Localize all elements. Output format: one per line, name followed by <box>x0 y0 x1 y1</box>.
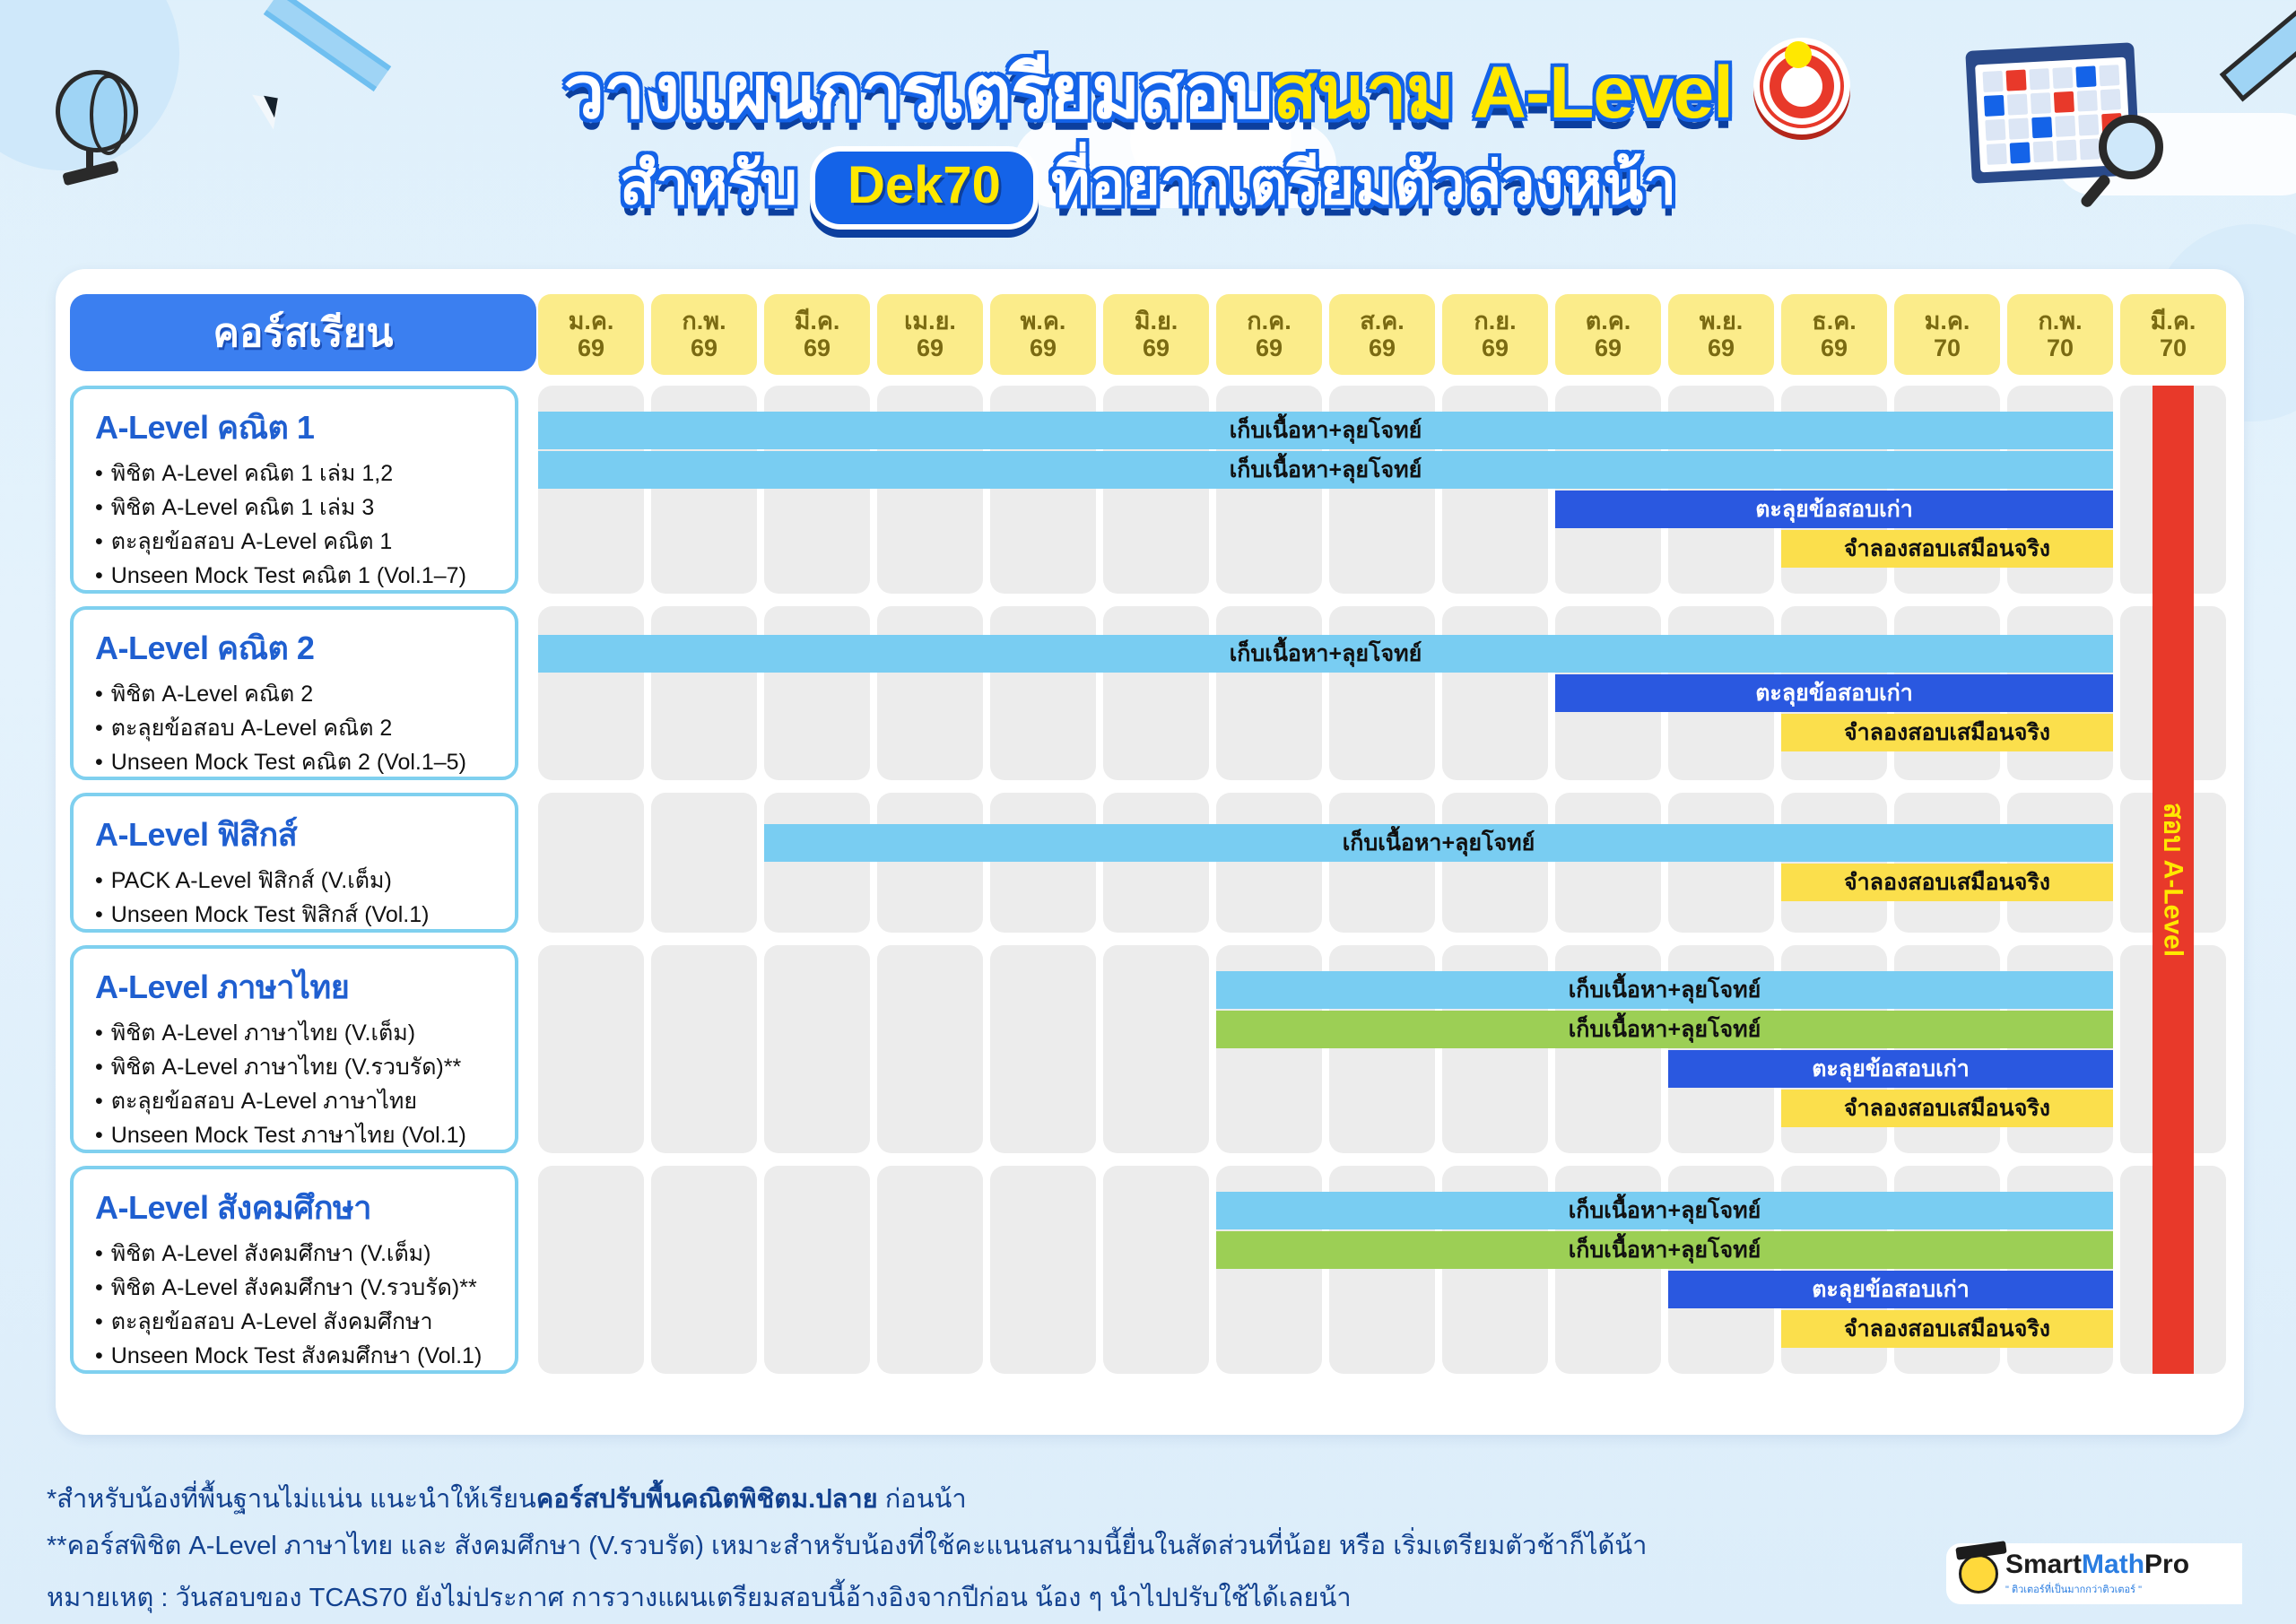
timeline-cell <box>877 606 983 780</box>
month-year: 69 <box>804 334 831 361</box>
gantt-bar-yellow: จำลองสอบเสมือนจริง <box>1781 864 2113 901</box>
logo-math: Math <box>2082 1550 2144 1579</box>
course-item-3: ตะลุยข้อสอบ A-Level คณิต 1 <box>95 525 497 559</box>
page-subtitle: สำหรับDek70ที่อยากเตรียมตัวล่วงหน้า <box>0 136 2296 230</box>
course-title: A-Level ฟิสิกส์ <box>95 809 497 860</box>
course-item-2: พิชิต A-Level ภาษาไทย (V.รวบรัด)** <box>95 1050 497 1084</box>
exam-date-marker: สอบ A-Level <box>2152 386 2194 1374</box>
month-year: 69 <box>1369 334 1396 361</box>
month-year: 70 <box>1934 334 1961 361</box>
month-year: 70 <box>2160 334 2187 361</box>
month-name: ก.พ. <box>682 308 726 334</box>
course-item-1: PACK A-Level ฟิสิกส์ (V.เต็ม) <box>95 864 497 898</box>
month-year: 69 <box>578 334 604 361</box>
page-title: วางแผนการเตรียมสอบสนาม A-Level <box>0 34 2296 151</box>
month-header-9: ก.ย.69 <box>1442 294 1548 375</box>
course-title: A-Level คณิต 2 <box>95 622 497 673</box>
footnote-1-a: *สำหรับน้องที่พื้นฐานไม่แน่น แนะนำให้เรี… <box>47 1485 536 1514</box>
course-card-4[interactable]: A-Level ภาษาไทยพิชิต A-Level ภาษาไทย (V.… <box>70 945 518 1153</box>
timeline-cell <box>764 606 870 780</box>
course-title: A-Level คณิต 1 <box>95 402 497 453</box>
timeline-cell <box>990 945 1096 1153</box>
gantt-bar-lblue: เก็บเนื้อหา+ลุยโจทย์ <box>538 412 2113 449</box>
logo-wordmark: SmartMathPro <box>2005 1551 2189 1578</box>
course-item-3: ตะลุยข้อสอบ A-Level ภาษาไทย <box>95 1084 497 1118</box>
month-year: 69 <box>691 334 717 361</box>
month-name: พ.ค. <box>1021 308 1066 334</box>
month-name: มี.ค. <box>2151 308 2196 334</box>
month-year: 69 <box>917 334 944 361</box>
timeline-cell <box>1103 793 1209 933</box>
gantt-bar-yellow: จำลองสอบเสมือนจริง <box>1781 714 2113 751</box>
gantt-bar-lblue: เก็บเนื้อหา+ลุยโจทย์ <box>764 824 2113 862</box>
course-item-1: พิชิต A-Level สังคมศึกษา (V.เต็ม) <box>95 1237 497 1271</box>
course-item-1: พิชิต A-Level ภาษาไทย (V.เต็ม) <box>95 1016 497 1050</box>
month-header-10: ต.ค.69 <box>1555 294 1661 375</box>
month-name: พ.ย. <box>1700 308 1744 334</box>
timeline-cell <box>1329 793 1435 933</box>
course-item-2: พิชิต A-Level สังคมศึกษา (V.รวบรัด)** <box>95 1271 497 1305</box>
timeline-cell <box>2007 793 2113 933</box>
course-card-1[interactable]: A-Level คณิต 1พิชิต A-Level คณิต 1 เล่ม … <box>70 386 518 594</box>
course-title: A-Level ภาษาไทย <box>95 961 497 1012</box>
subtitle-prefix: สำหรับ <box>620 150 797 216</box>
gantt-bar-lblue: เก็บเนื้อหา+ลุยโจทย์ <box>538 635 2113 673</box>
footnote-1: *สำหรับน้องที่พื้นฐานไม่แน่น แนะนำให้เรี… <box>47 1478 967 1519</box>
gantt-bar-lblue: เก็บเนื้อหา+ลุยโจทย์ <box>1216 1192 2113 1229</box>
timeline-cell <box>1668 793 1774 933</box>
month-year: 69 <box>1482 334 1509 361</box>
subtitle-suffix: ที่อยากเตรียมตัวล่วงหน้า <box>1051 150 1676 216</box>
footnote-1-c: ก่อนน้า <box>878 1485 967 1514</box>
course-card-5[interactable]: A-Level สังคมศึกษาพิชิต A-Level สังคมศึก… <box>70 1166 518 1374</box>
timeline-cell <box>1103 1166 1209 1374</box>
timeline-cell <box>877 793 983 933</box>
month-year: 70 <box>2047 334 2074 361</box>
logo-tagline: " ติวเตอร์ที่เป็นมากกว่าติวเตอร์ " <box>2005 1581 2189 1597</box>
course-item-4: Unseen Mock Test คณิต 1 (Vol.1–7) <box>95 559 497 593</box>
gantt-bar-yellow: จำลองสอบเสมือนจริง <box>1781 1310 2113 1348</box>
footnote-2: **คอร์สพิชิต A-Level ภาษาไทย และ สังคมศึ… <box>47 1524 1647 1566</box>
logo-pro: Pro <box>2144 1550 2189 1579</box>
course-item-4: Unseen Mock Test ภาษาไทย (Vol.1) <box>95 1118 497 1152</box>
month-header-14: ก.พ.70 <box>2007 294 2113 375</box>
gantt-bar-green: เก็บเนื้อหา+ลุยโจทย์ <box>1216 1011 2113 1048</box>
month-header-15: มี.ค.70 <box>2120 294 2226 375</box>
course-item-4: Unseen Mock Test สังคมศึกษา (Vol.1) <box>95 1339 497 1373</box>
timeline-cell <box>764 1166 870 1374</box>
month-header-2: ก.พ.69 <box>651 294 757 375</box>
timeline-cell <box>538 606 644 780</box>
timeline-cell <box>877 945 983 1153</box>
dek70-badge: Dek70 <box>810 146 1039 230</box>
timeline-cell <box>1216 606 1322 780</box>
month-header-3: มี.ค.69 <box>764 294 870 375</box>
timeline-cell <box>990 606 1096 780</box>
month-name: ธ.ค. <box>1812 308 1857 334</box>
timeline-cell <box>764 945 870 1153</box>
page-header: วางแผนการเตรียมสอบสนาม A-Level สำหรับDek… <box>0 0 2296 260</box>
logo-smart: Smart <box>2005 1550 2082 1579</box>
month-name: ก.ย. <box>1474 308 1516 334</box>
timeline-cell <box>651 793 757 933</box>
timeline-cell <box>1781 793 1887 933</box>
timeline-cell <box>990 793 1096 933</box>
course-card-3[interactable]: A-Level ฟิสิกส์PACK A-Level ฟิสิกส์ (V.เ… <box>70 793 518 933</box>
graduate-smiley-icon <box>1959 1554 1998 1594</box>
course-item-2: Unseen Mock Test ฟิสิกส์ (Vol.1) <box>95 898 497 932</box>
month-header-1: ม.ค.69 <box>538 294 644 375</box>
course-column-header: คอร์สเรียน <box>70 294 536 371</box>
gantt-bar-yellow: จำลองสอบเสมือนจริง <box>1781 1090 2113 1127</box>
month-header-6: มิ.ย.69 <box>1103 294 1209 375</box>
month-year: 69 <box>1821 334 1848 361</box>
title-part-white: วางแผนการเตรียมสอบ <box>563 52 1273 134</box>
month-name: ต.ค. <box>1586 308 1631 334</box>
title-part-yellow: สนาม A-Level <box>1273 52 1733 134</box>
gantt-bar-lblue: เก็บเนื้อหา+ลุยโจทย์ <box>1216 971 2113 1009</box>
month-header-11: พ.ย.69 <box>1668 294 1774 375</box>
footnote-1-highlight: คอร์สปรับพื้นคณิตพิชิตม.ปลาย <box>536 1485 878 1514</box>
month-header-13: ม.ค.70 <box>1894 294 2000 375</box>
timeline-cell <box>764 793 870 933</box>
month-name: เม.ย. <box>904 308 956 334</box>
month-header-7: ก.ค.69 <box>1216 294 1322 375</box>
month-year: 69 <box>1256 334 1283 361</box>
month-header-12: ธ.ค.69 <box>1781 294 1887 375</box>
timeline-cell <box>1216 793 1322 933</box>
target-highlight <box>1785 41 1812 68</box>
month-name: ก.ค. <box>1247 308 1291 334</box>
timeline-cell <box>538 1166 644 1374</box>
timeline-cell <box>877 1166 983 1374</box>
course-item-3: ตะลุยข้อสอบ A-Level สังคมศึกษา <box>95 1305 497 1339</box>
timeline-cell <box>1103 606 1209 780</box>
gantt-bar-blue: ตะลุยข้อสอบเก่า <box>1555 491 2113 528</box>
month-year: 69 <box>1143 334 1170 361</box>
month-name: มิ.ย. <box>1135 308 1178 334</box>
timeline-cell <box>1442 793 1548 933</box>
timeline-cell <box>1442 606 1548 780</box>
month-name: ม.ค. <box>569 308 614 334</box>
course-item-3: Unseen Mock Test คณิต 2 (Vol.1–5) <box>95 745 497 779</box>
note-line: หมายเหตุ : วันสอบของ TCAS70 ยังไม่ประกาศ… <box>47 1576 1352 1618</box>
month-year: 69 <box>1595 334 1622 361</box>
timeline-cell <box>1329 606 1435 780</box>
brand-logo: SmartMathPro " ติวเตอร์ที่เป็นมากกว่าติว… <box>1946 1543 2242 1604</box>
course-item-1: พิชิต A-Level คณิต 1 เล่ม 1,2 <box>95 456 497 491</box>
course-item-1: พิชิต A-Level คณิต 2 <box>95 677 497 711</box>
month-header-4: เม.ย.69 <box>877 294 983 375</box>
course-item-2: พิชิต A-Level คณิต 1 เล่ม 3 <box>95 491 497 525</box>
timeline-cell <box>538 945 644 1153</box>
month-header-5: พ.ค.69 <box>990 294 1096 375</box>
month-name: ส.ค. <box>1360 308 1405 334</box>
gantt-bar-yellow: จำลองสอบเสมือนจริง <box>1781 530 2113 568</box>
timeline-cell <box>651 1166 757 1374</box>
month-year: 69 <box>1030 334 1057 361</box>
month-name: มี.ค. <box>795 308 840 334</box>
course-card-2[interactable]: A-Level คณิต 2พิชิต A-Level คณิต 2ตะลุยข… <box>70 606 518 780</box>
timeline-cell <box>1103 945 1209 1153</box>
timeline-cell <box>538 793 644 933</box>
timeline-cell <box>1894 793 2000 933</box>
course-item-2: ตะลุยข้อสอบ A-Level คณิต 2 <box>95 711 497 745</box>
timeline-cell <box>990 1166 1096 1374</box>
gantt-bar-blue: ตะลุยข้อสอบเก่า <box>1668 1271 2113 1308</box>
month-header-8: ส.ค.69 <box>1329 294 1435 375</box>
gantt-bar-green: เก็บเนื้อหา+ลุยโจทย์ <box>1216 1231 2113 1269</box>
timeline-cell <box>651 606 757 780</box>
gantt-bar-blue: ตะลุยข้อสอบเก่า <box>1555 674 2113 712</box>
month-name: ม.ค. <box>1925 308 1970 334</box>
gantt-bar-blue: ตะลุยข้อสอบเก่า <box>1668 1050 2113 1088</box>
timeline-cell <box>651 945 757 1153</box>
month-year: 69 <box>1708 334 1735 361</box>
timeline-cell <box>1555 793 1661 933</box>
gantt-bar-lblue: เก็บเนื้อหา+ลุยโจทย์ <box>538 451 2113 489</box>
course-title: A-Level สังคมศึกษา <box>95 1182 497 1233</box>
exam-date-marker-label: สอบ A-Level <box>2152 803 2195 957</box>
month-name: ก.พ. <box>2038 308 2082 334</box>
